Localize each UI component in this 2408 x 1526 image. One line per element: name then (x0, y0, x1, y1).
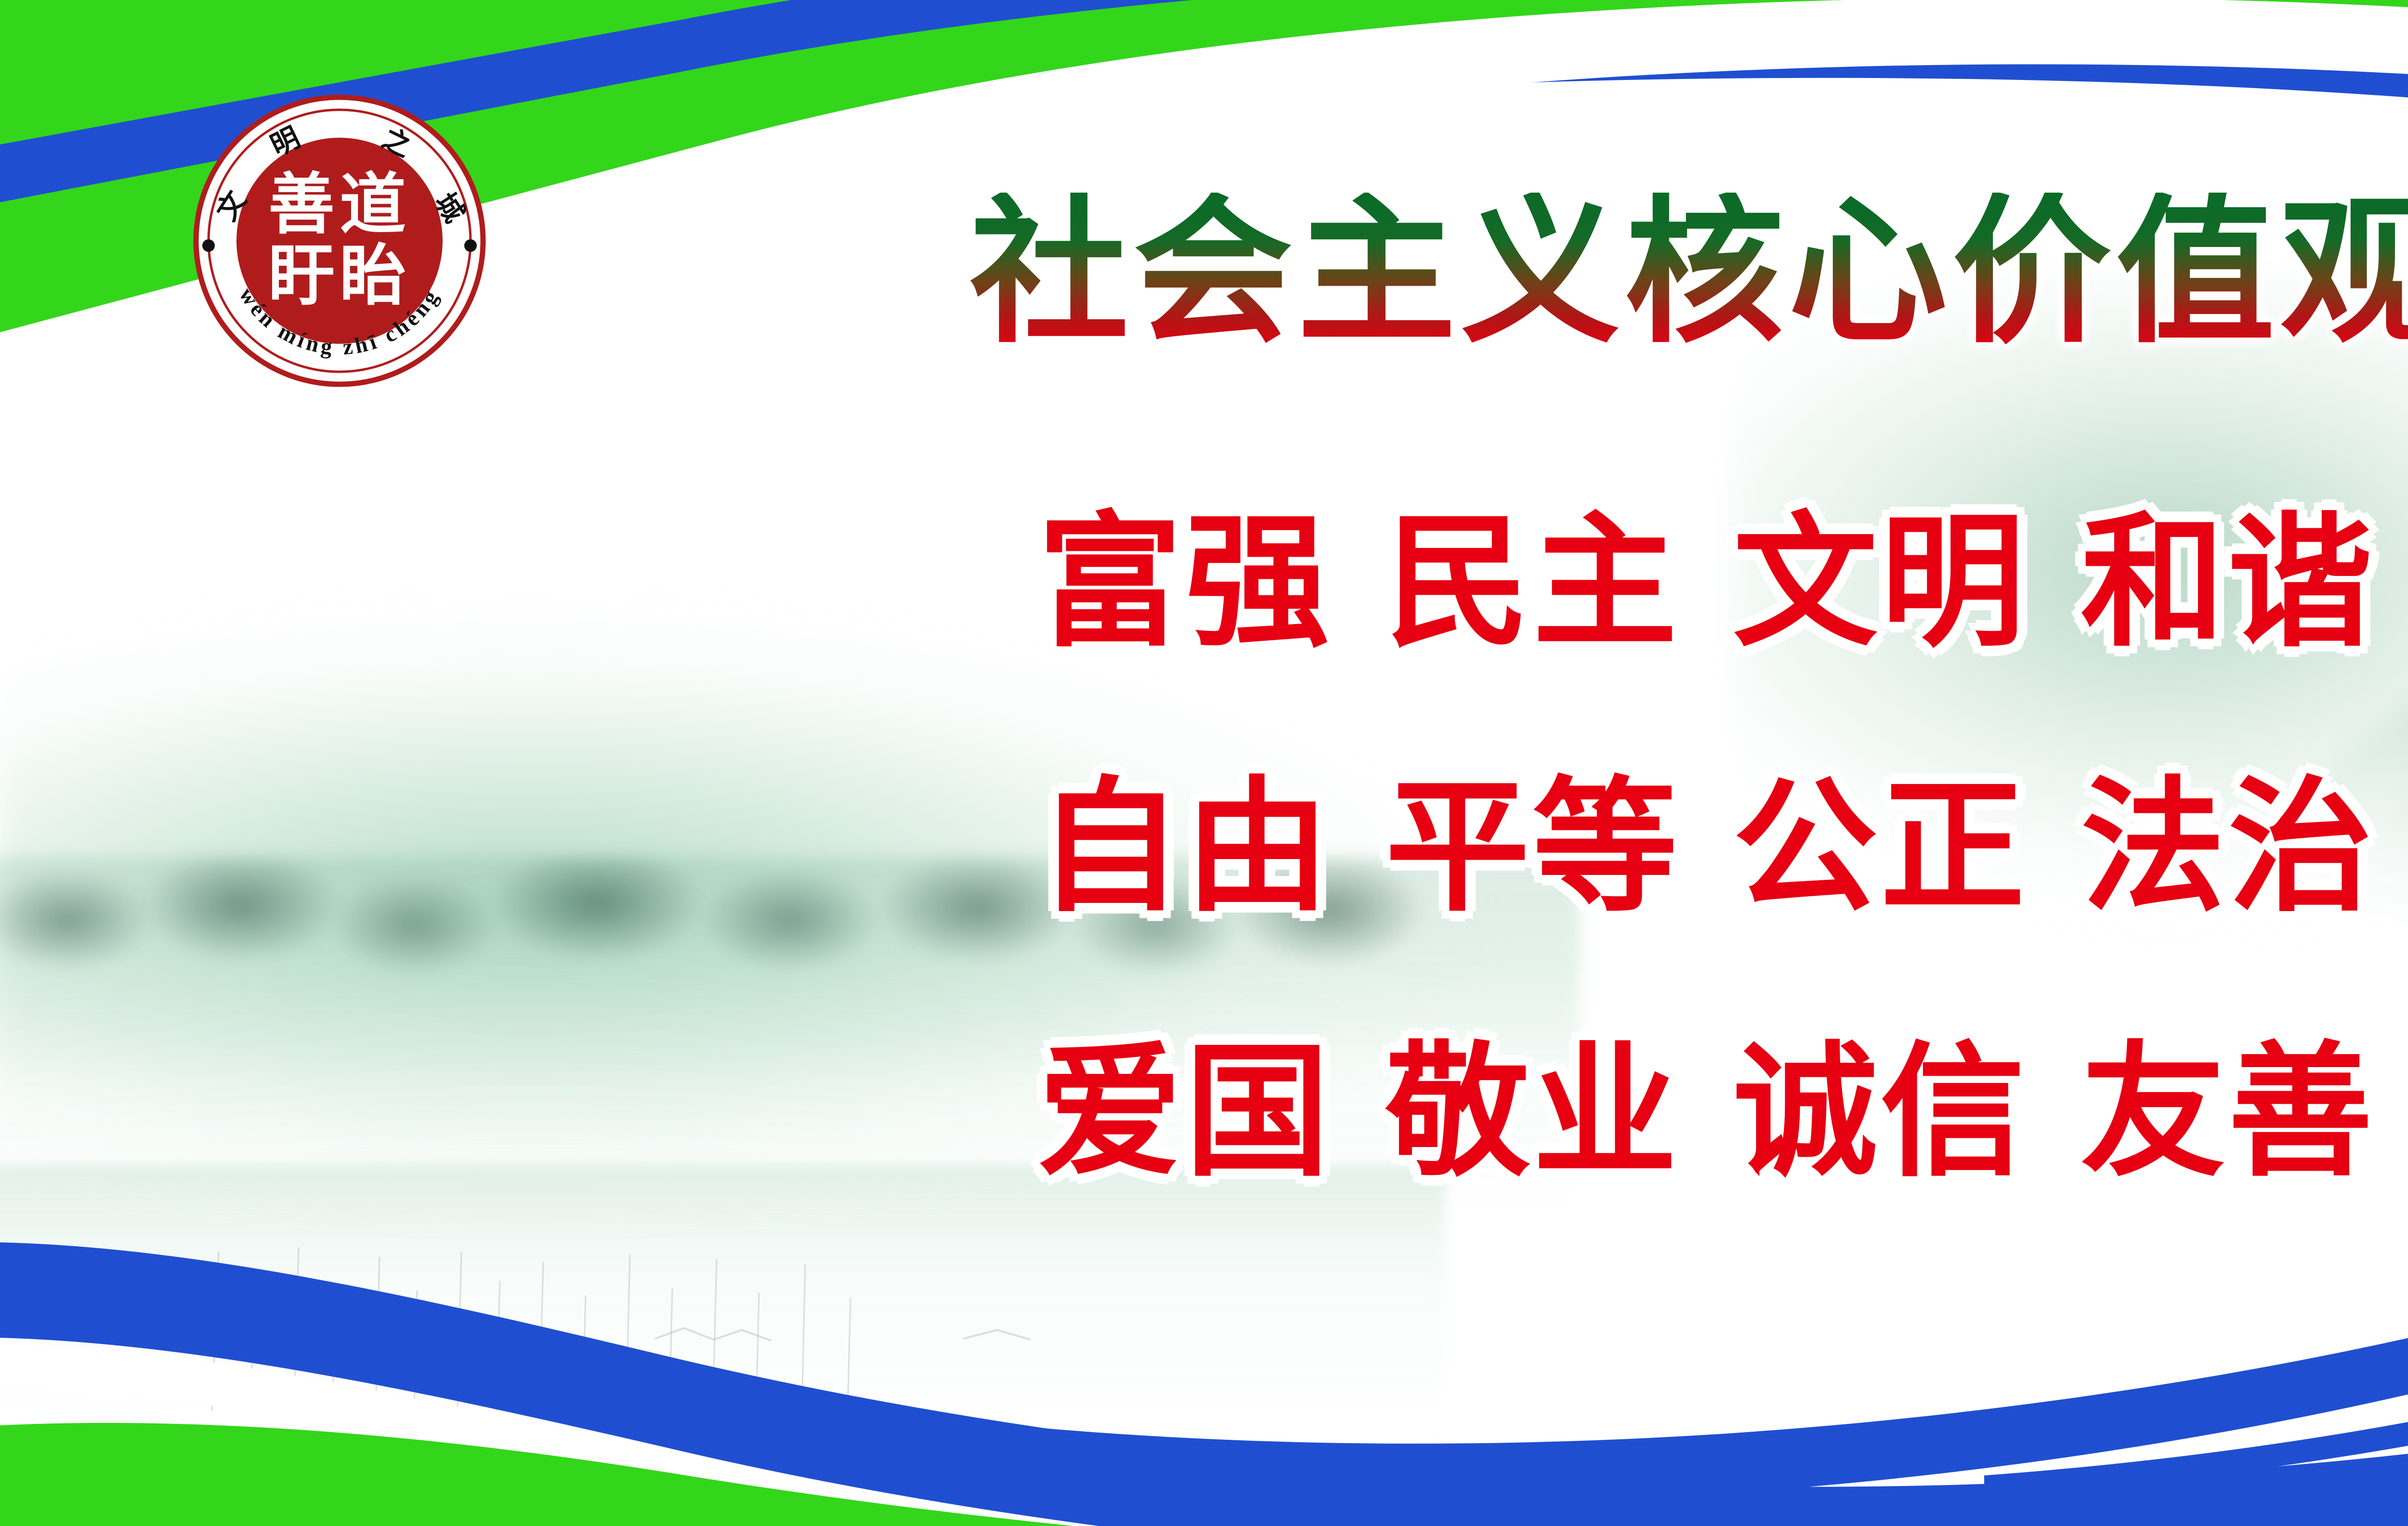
banner-board: 文 明 之 城 善道 盱眙 wén míng zhī chéng 社会主义核心价… (0, 0, 2408, 1526)
value-word: 诚信 (1733, 1028, 2028, 1196)
value-word: 民主 (1386, 498, 1680, 666)
values-line-1: 富强民主文明和谐 (0, 510, 2408, 655)
values-line-2: 自由平等公正法治 (0, 775, 2408, 920)
value-word: 法治 (2081, 763, 2376, 931)
value-word: 公正 (1733, 763, 2028, 931)
value-word: 富强 (1038, 498, 1333, 666)
values-line-3: 爱国敬业诚信友善 (0, 1040, 2408, 1185)
page-title: 社会主义核心价值观 (0, 193, 2408, 352)
value-word: 和谐 (2081, 498, 2376, 666)
value-word: 平等 (1386, 763, 1680, 931)
value-word: 爱国 (1038, 1028, 1333, 1196)
value-word: 敬业 (1386, 1028, 1680, 1196)
text-content: 社会主义核心价值观 富强民主文明和谐 自由平等公正法治 爱国敬业诚信友善 (0, 0, 2408, 1526)
value-word: 自由 (1038, 763, 1333, 931)
value-word: 文明 (1733, 498, 2028, 666)
value-word: 友善 (2081, 1028, 2376, 1196)
